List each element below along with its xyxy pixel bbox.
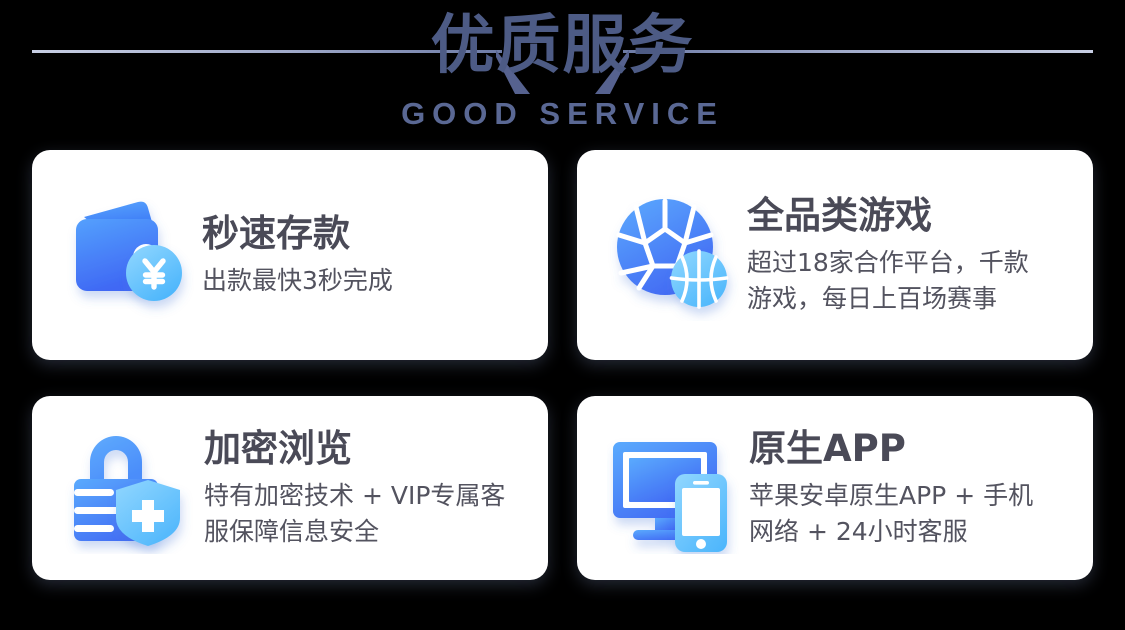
- page-subtitle: GOOD SERVICE: [0, 96, 1125, 132]
- card-text-block: 全品类游戏 超过18家合作平台，千款 游戏，每日上百场赛事: [747, 193, 1029, 317]
- monitor-phone-icon: [607, 422, 739, 554]
- feature-card-all-games[interactable]: 全品类游戏 超过18家合作平台，千款 游戏，每日上百场赛事: [577, 150, 1093, 360]
- card-description-line: 超过18家合作平台，千款: [747, 245, 1029, 281]
- page-title: 优质服务: [0, 4, 1125, 88]
- card-title: 加密浏览: [204, 426, 505, 472]
- card-description: 特有加密技术 + VIP专属客 服保障信息安全: [204, 478, 505, 550]
- feature-card-grid: 秒速存款 出款最快3秒完成: [32, 150, 1093, 580]
- card-description: 出款最快3秒完成: [202, 263, 393, 299]
- page-header: 优质服务 GOOD SERVICE: [0, 0, 1125, 140]
- card-title: 全品类游戏: [747, 193, 1029, 239]
- card-description-line: 游戏，每日上百场赛事: [747, 281, 1029, 317]
- card-description-line: 特有加密技术 + VIP专属客: [204, 478, 505, 514]
- card-description-line: 出款最快3秒完成: [202, 263, 393, 299]
- feature-card-encrypted-browsing[interactable]: 加密浏览 特有加密技术 + VIP专属客 服保障信息安全: [32, 396, 548, 580]
- lock-shield-icon: [62, 422, 194, 554]
- card-description: 超过18家合作平台，千款 游戏，每日上百场赛事: [747, 245, 1029, 317]
- card-description-line: 苹果安卓原生APP + 手机: [749, 478, 1033, 514]
- card-text-block: 原生APP 苹果安卓原生APP + 手机 网络 + 24小时客服: [749, 426, 1033, 550]
- card-text-block: 秒速存款 出款最快3秒完成: [202, 211, 393, 299]
- wallet-yen-icon: [62, 189, 194, 321]
- feature-card-native-app[interactable]: 原生APP 苹果安卓原生APP + 手机 网络 + 24小时客服: [577, 396, 1093, 580]
- card-text-block: 加密浏览 特有加密技术 + VIP专属客 服保障信息安全: [204, 426, 505, 550]
- card-description: 苹果安卓原生APP + 手机 网络 + 24小时客服: [749, 478, 1033, 550]
- card-description-line: 网络 + 24小时客服: [749, 514, 1033, 550]
- card-description-line: 服保障信息安全: [204, 514, 505, 550]
- soccer-basketball-icon: [607, 189, 739, 321]
- card-title: 秒速存款: [202, 211, 393, 257]
- card-title: 原生APP: [749, 426, 1033, 472]
- feature-card-instant-deposit[interactable]: 秒速存款 出款最快3秒完成: [32, 150, 548, 360]
